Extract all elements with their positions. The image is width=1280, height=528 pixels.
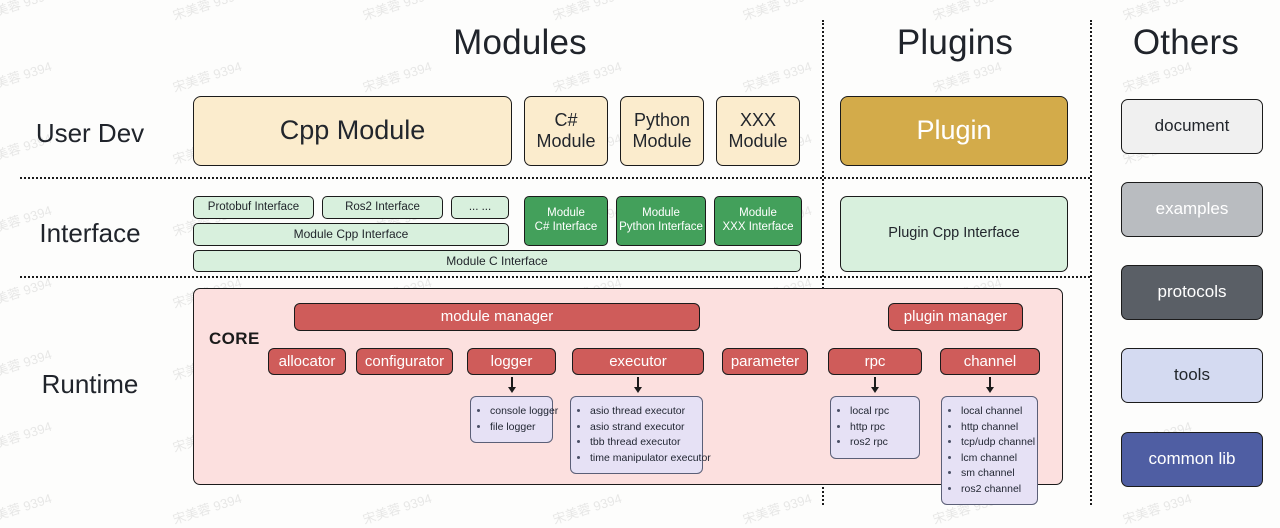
interface-module-c[interactable]: Module C Interface [193,250,801,272]
column-header-plugins: Plugins [820,23,1090,63]
others-tools[interactable]: tools [1121,348,1263,403]
interface-module-cpp[interactable]: Module Cpp Interface [193,223,509,246]
others-examples[interactable]: examples [1121,182,1263,237]
watermark: 宋美蓉 9394 [0,56,54,96]
core-channel-children: local channelhttp channeltcp/udp channel… [941,396,1038,505]
row-label-user-dev: User Dev [0,118,180,149]
watermark: 宋美蓉 9394 [1120,488,1194,528]
others-document[interactable]: document [1121,99,1263,154]
core-component-channel[interactable]: channel [940,348,1040,375]
core-component-parameter[interactable]: parameter [722,348,808,375]
interface-more[interactable]: ... ... [451,196,509,219]
watermark: 宋美蓉 9394 [0,488,54,528]
watermark: 宋美蓉 9394 [360,0,434,24]
core-component-executor[interactable]: executor [572,348,704,375]
others-common-lib[interactable]: common lib [1121,432,1263,487]
watermark: 宋美蓉 9394 [170,56,244,96]
arrow-executor-down [631,377,645,393]
row-label-runtime: Runtime [0,369,180,400]
arrow-logger-down [505,377,519,393]
list-item: file logger [490,420,544,436]
column-header-modules: Modules [352,23,688,63]
core-label: CORE [209,329,260,349]
watermark: 宋美蓉 9394 [550,488,624,528]
list-item: sm channel [961,466,1029,482]
list-item: tcp/udp channel [961,435,1029,451]
interface-module-python[interactable]: Module Python Interface [616,196,706,246]
watermark: 宋美蓉 9394 [740,56,814,96]
column-header-others: Others [1092,23,1280,63]
core-component-configurator[interactable]: configurator [356,348,453,375]
arrow-rpc-down [868,377,882,393]
user-dev-module-csharp[interactable]: C# Module [524,96,608,166]
list-item: tbb thread executor [590,435,694,451]
watermark: 宋美蓉 9394 [740,488,814,528]
user-dev-module-cpp[interactable]: Cpp Module [193,96,512,166]
row-label-interface: Interface [0,218,180,249]
core-component-allocator[interactable]: allocator [268,348,346,375]
core-rpc-children: local rpchttp rpcros2 rpc [830,396,920,459]
core-executor-children: asio thread executorasio strand executor… [570,396,703,474]
watermark: 宋美蓉 9394 [170,0,244,24]
interface-plugin-cpp[interactable]: Plugin Cpp Interface [840,196,1068,272]
divider-plugins-others [1090,20,1092,505]
list-item: http rpc [850,420,911,436]
watermark: 宋美蓉 9394 [550,0,624,24]
interface-module-csharp[interactable]: Module C# Interface [524,196,608,246]
list-item: local channel [961,404,1029,420]
list-item: asio strand executor [590,420,694,436]
divider-interface-runtime [20,276,1090,278]
list-item: http channel [961,420,1029,436]
watermark: 宋美蓉 9394 [0,416,54,456]
user-dev-module-python[interactable]: Python Module [620,96,704,166]
watermark: 宋美蓉 9394 [1120,0,1194,24]
list-item: ros2 channel [961,482,1029,498]
core-module-manager[interactable]: module manager [294,303,700,331]
watermark: 宋美蓉 9394 [930,0,1004,24]
list-item: local rpc [850,404,911,420]
interface-ros2[interactable]: Ros2 Interface [322,196,443,219]
core-component-rpc[interactable]: rpc [828,348,922,375]
list-item: ros2 rpc [850,435,911,451]
user-dev-module-xxx[interactable]: XXX Module [716,96,800,166]
watermark: 宋美蓉 9394 [360,488,434,528]
user-dev-plugin[interactable]: Plugin [840,96,1068,166]
divider-user-dev-interface [20,177,1090,179]
arrow-channel-down [983,377,997,393]
architecture-diagram: 宋美蓉 9394宋美蓉 9394宋美蓉 9394宋美蓉 9394宋美蓉 9394… [0,0,1280,519]
watermark: 宋美蓉 9394 [170,488,244,528]
interface-module-xxx[interactable]: Module XXX Interface [714,196,802,246]
core-logger-children: console loggerfile logger [470,396,553,443]
list-item: asio thread executor [590,404,694,420]
list-item: time manipulator executor [590,451,694,467]
list-item: console logger [490,404,544,420]
watermark: 宋美蓉 9394 [740,0,814,24]
core-component-logger[interactable]: logger [467,348,556,375]
watermark: 宋美蓉 9394 [0,0,54,24]
others-protocols[interactable]: protocols [1121,265,1263,320]
list-item: lcm channel [961,451,1029,467]
interface-protobuf[interactable]: Protobuf Interface [193,196,314,219]
core-plugin-manager[interactable]: plugin manager [888,303,1023,331]
